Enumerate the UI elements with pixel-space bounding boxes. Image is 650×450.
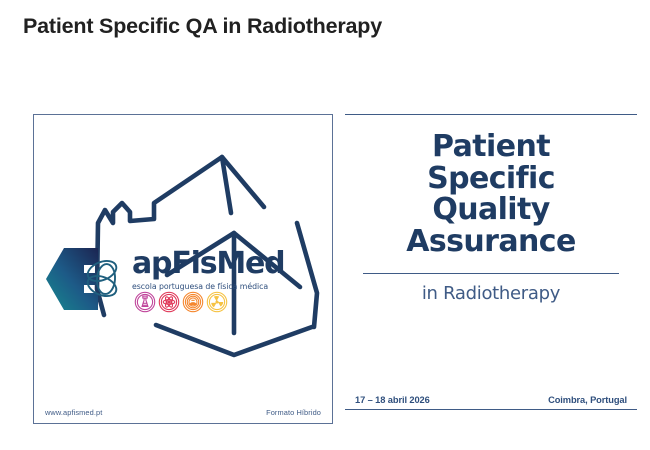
event-heading-line-3: Quality	[345, 194, 637, 226]
event-dates: 17 – 18 abril 2026	[355, 395, 430, 405]
event-footer: 17 – 18 abril 2026 Coimbra, Portugal	[345, 395, 637, 410]
poster-footer: www.apfismed.pt Formato Híbrido	[34, 408, 332, 417]
poster-website[interactable]: www.apfismed.pt	[45, 408, 102, 417]
apfismed-wordmark-text: apFisMed	[132, 249, 312, 279]
event-subtitle: in Radiotherapy	[345, 283, 637, 304]
heading-subtitle-gap	[345, 257, 637, 273]
event-heading-line-1: Patient	[345, 131, 637, 163]
atom-badge-icon	[158, 291, 180, 313]
bottom-divider	[345, 409, 637, 410]
radiology-badge-icon	[182, 291, 204, 313]
apfismed-wordmark: apFisMed escola portuguesa de física méd…	[132, 249, 312, 291]
event-heading-line-4: Assurance	[345, 226, 637, 258]
event-heading-line-2: Specific	[345, 163, 637, 195]
discipline-badge-row	[134, 291, 228, 313]
poster-panel: apFisMed escola portuguesa de física méd…	[33, 114, 333, 424]
event-details-column: Patient Specific Quality Assurance in Ra…	[345, 114, 637, 424]
radiopharmacy-badge-icon	[134, 291, 156, 313]
event-heading: Patient Specific Quality Assurance	[345, 131, 637, 257]
radiation-trefoil-badge-icon	[206, 291, 228, 313]
top-divider	[345, 114, 637, 115]
apfismed-logo: apFisMed escola portuguesa de física méd…	[44, 237, 312, 333]
poster-format: Formato Híbrido	[266, 408, 321, 417]
event-location: Coimbra, Portugal	[548, 395, 627, 405]
page-title: Patient Specific QA in Radiotherapy	[23, 14, 382, 39]
divider-subtitle-gap	[345, 274, 637, 283]
apfismed-tagline: escola portuguesa de física médica	[132, 282, 312, 291]
apfismed-hexagon-atom-mark	[44, 245, 126, 313]
